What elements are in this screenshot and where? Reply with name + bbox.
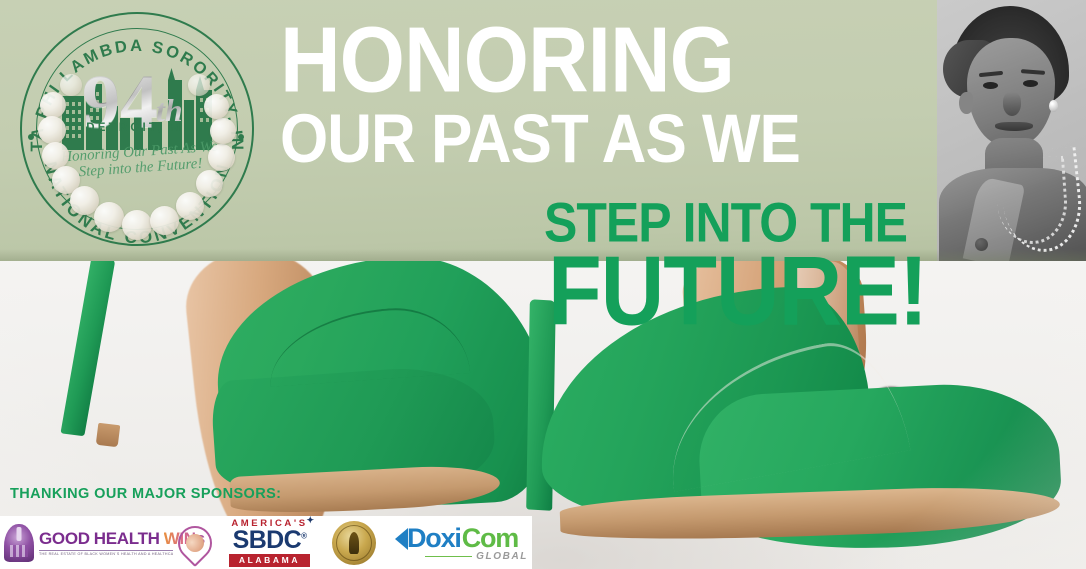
sponsor-logo-good-health-wins[interactable]: GOOD HEALTH WINs THE REAL ESTATE OF BLAC… — [0, 516, 216, 569]
sponsors-title: THANKING OUR MAJOR SPONSORS: — [10, 486, 281, 502]
ghw-divider — [39, 550, 173, 551]
portrait-earring — [1049, 100, 1058, 112]
sbdc-acronym: SBDC® — [233, 529, 307, 553]
state-seal-figure — [349, 532, 359, 554]
convention-banner: IOTA PHI LAMBDA SORORITY, INC. NATIONAL … — [0, 0, 1086, 569]
doxicom-word-com: Com — [462, 523, 518, 554]
ghw-word-good: GOOD — [39, 529, 90, 549]
sponsor-logo-strip: GOOD HEALTH WINs THE REAL ESTATE OF BLAC… — [0, 516, 532, 569]
star-icon: ✦ — [307, 515, 317, 526]
good-health-wins-line: GOOD HEALTH WINs — [39, 529, 173, 549]
headline-line-4: FUTURE! — [548, 246, 927, 335]
ghw-tagline: THE REAL ESTATE OF BLACK WOMEN´S HEALTH … — [39, 552, 173, 556]
sbdc-top-text: AMERICA'S ✦ — [231, 518, 307, 529]
sponsor-logo-doxicom-global[interactable]: Doxi Com GLOBAL — [385, 516, 532, 569]
state-seal-icon — [332, 521, 376, 565]
sbdc-registered-mark: ® — [301, 532, 306, 541]
sponsor-logo-americas-sbdc-alabama[interactable]: AMERICA'S ✦ SBDC® ALABAMA — [216, 516, 323, 569]
portrait-eye-right — [1023, 80, 1038, 87]
ghw-word-health: HEALTH — [94, 529, 160, 549]
portrait-eye-left — [983, 82, 998, 89]
heart-icon — [171, 518, 219, 566]
left-shoe-heel-tip — [96, 423, 121, 448]
sbdc-americas-label: AMERICA'S — [231, 518, 307, 529]
portrait-ear — [959, 92, 973, 114]
good-health-wins-crest-icon — [4, 524, 34, 562]
founder-portrait — [937, 0, 1086, 261]
sorority-seal-logo: IOTA PHI LAMBDA SORORITY, INC. NATIONAL … — [8, 4, 266, 254]
portrait-mouth — [995, 122, 1033, 131]
doxicom-sub-rule — [425, 556, 472, 557]
doxicom-sub-label: GLOBAL — [476, 551, 528, 562]
headline-line-2: OUR PAST AS WE — [280, 108, 800, 171]
good-health-wins-wordmark: GOOD HEALTH WINs THE REAL ESTATE OF BLAC… — [39, 529, 173, 556]
pearl-strand — [38, 64, 238, 244]
sbdc-state-label: ALABAMA — [229, 554, 310, 567]
sponsor-logo-alabama-state-seal[interactable] — [323, 516, 385, 569]
sbdc-acronym-text: SBDC — [233, 526, 301, 554]
portrait-nose — [1003, 92, 1021, 116]
portrait-coat-button — [975, 238, 988, 251]
headline-line-1: HONORING — [280, 18, 734, 103]
doxicom-wordmark: Doxi Com — [395, 523, 518, 554]
doxicom-sub-row: GLOBAL — [395, 551, 528, 562]
left-shoe-heel — [60, 256, 115, 436]
doxicom-word-doxi: Doxi — [407, 523, 461, 554]
header-band: IOTA PHI LAMBDA SORORITY, INC. NATIONAL … — [0, 0, 1086, 261]
